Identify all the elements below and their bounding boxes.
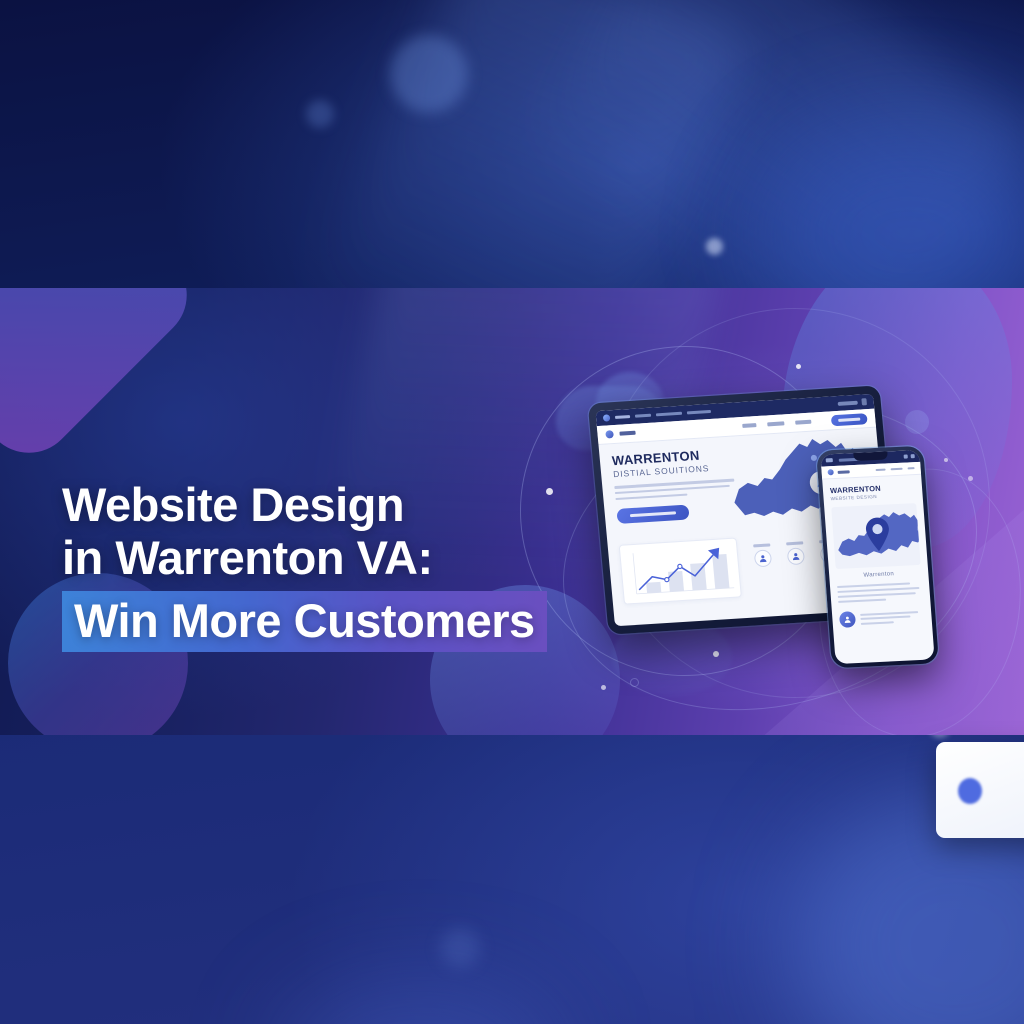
team-member-name xyxy=(786,541,803,545)
bokeh-circle xyxy=(306,100,334,128)
bokeh-circle xyxy=(440,928,480,968)
phone-card-text xyxy=(860,610,925,624)
tablet-hero-cta-button[interactable] xyxy=(616,505,689,524)
topbar-nav-item[interactable] xyxy=(635,414,651,418)
growth-chart-svg xyxy=(624,543,739,602)
phone-nav-right xyxy=(876,467,915,471)
phone-nav-item[interactable] xyxy=(891,467,903,470)
phone-nav-item[interactable] xyxy=(876,468,886,471)
phone-info-card[interactable] xyxy=(839,608,925,628)
phone-mockup[interactable]: WARRENTON WEBSITE DESIGN Warrenton xyxy=(816,446,939,669)
headline-line-2: in Warrenton VA: xyxy=(62,531,582,584)
peek-card xyxy=(936,742,1024,838)
phone-map-caption: Warrenton xyxy=(836,570,921,580)
brand-logo-icon xyxy=(603,414,611,421)
user-avatar-icon xyxy=(839,611,856,628)
navbar-brand-icon[interactable] xyxy=(605,430,614,438)
team-member[interactable] xyxy=(753,543,772,567)
navbar-menu-item[interactable] xyxy=(767,422,784,426)
network-node-dot xyxy=(796,364,801,369)
rounded-diamond-decoration xyxy=(0,288,206,472)
phone-screen: WARRENTON WEBSITE DESIGN Warrenton xyxy=(820,450,934,664)
bokeh-circle xyxy=(706,238,723,255)
navbar-brand-text xyxy=(619,431,635,436)
paragraph-line xyxy=(615,493,687,500)
camera-icon xyxy=(826,458,833,462)
avatar-dot-icon xyxy=(958,778,982,804)
topbar-account-pill[interactable] xyxy=(838,400,858,405)
bokeh-circle xyxy=(390,35,468,113)
navbar-menu-item[interactable] xyxy=(795,420,811,424)
user-avatar-icon xyxy=(754,549,773,567)
phone-brand-text xyxy=(838,470,850,474)
menu-square-icon[interactable] xyxy=(861,398,867,405)
phone-notch xyxy=(853,451,888,461)
location-pin-icon xyxy=(863,516,893,552)
topbar-nav-item[interactable] xyxy=(656,412,682,417)
phone-body: WARRENTON WEBSITE DESIGN Warrenton xyxy=(822,475,934,664)
headline-line-3-highlighted: Win More Customers xyxy=(62,591,547,652)
navbar-cta-button[interactable] xyxy=(831,413,868,426)
team-member-name xyxy=(753,543,770,547)
statusbar-right-icons xyxy=(903,454,915,459)
phone-brand-icon[interactable] xyxy=(827,469,833,475)
hamburger-icon[interactable] xyxy=(908,467,915,470)
topbar-right-group xyxy=(837,398,867,407)
device-mockup-group: WARRENTON DISTIAL SOUITIONS xyxy=(588,380,988,700)
battery-icon xyxy=(910,454,915,458)
headline-line-1: Website Design xyxy=(62,478,582,531)
headline-block: Website Design in Warrenton VA: Win More… xyxy=(62,478,582,652)
phone-map-graphic xyxy=(831,503,920,569)
glow-blob-center-bottom xyxy=(280,980,560,1024)
brand-name-text xyxy=(615,415,630,419)
user-avatar-icon xyxy=(787,547,806,565)
poster-canvas: Website Design in Warrenton VA: Win More… xyxy=(0,0,1024,1024)
signal-icon xyxy=(903,454,908,458)
growth-chart-card xyxy=(619,538,742,605)
paragraph-line xyxy=(838,592,916,598)
paragraph-line xyxy=(838,599,886,604)
navbar-menu-item[interactable] xyxy=(742,424,756,428)
topbar-nav-item[interactable] xyxy=(687,410,711,414)
phone-paragraph xyxy=(837,582,923,603)
team-member[interactable] xyxy=(786,541,805,565)
